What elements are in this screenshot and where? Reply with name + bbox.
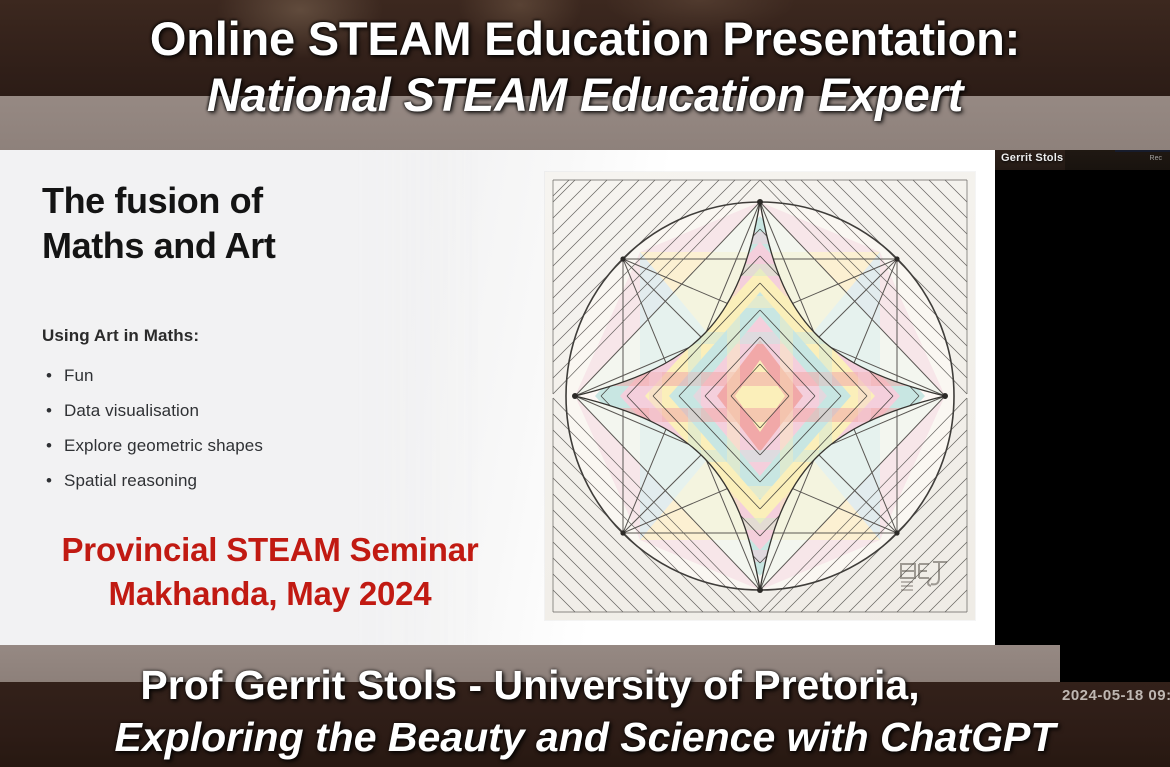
slide-heading-line1: The fusion of xyxy=(42,178,462,223)
event-title: Provincial STEAM Seminar xyxy=(10,528,530,572)
bullet-item: Fun xyxy=(42,358,263,393)
bottom-band-black-gap xyxy=(1060,645,1170,682)
bullet-item: Data visualisation xyxy=(42,393,263,428)
presentation-title-line1: Online STEAM Education Presentation: xyxy=(0,12,1170,66)
presentation-title-line2: National STEAM Education Expert xyxy=(0,68,1170,122)
artist-signature-icon xyxy=(895,554,957,594)
geometric-artwork xyxy=(545,172,975,620)
event-place-date: Makhanda, May 2024 xyxy=(10,572,530,616)
recording-badge: Rec xyxy=(1150,155,1162,162)
slide-subheading: Using Art in Maths: xyxy=(42,326,199,346)
presenter-credit-line: Prof Gerrit Stols - University of Pretor… xyxy=(0,660,1060,710)
participant-name-label: Gerrit Stols xyxy=(1001,152,1063,164)
slide-heading-line2: Maths and Art xyxy=(42,223,462,268)
artwork-drawing xyxy=(545,172,975,620)
video-conference-screen: The fusion of Maths and Art Using Art in… xyxy=(0,0,1170,767)
shared-slide[interactable]: The fusion of Maths and Art Using Art in… xyxy=(0,150,1000,645)
empty-video-pane xyxy=(995,170,1170,645)
slide-bullet-list: Fun Data visualisation Explore geometric… xyxy=(42,358,263,498)
presentation-subtitle-line: Exploring the Beauty and Science with Ch… xyxy=(0,712,1170,762)
bullet-item: Spatial reasoning xyxy=(42,463,263,498)
slide-event-footer: Provincial STEAM Seminar Makhanda, May 2… xyxy=(10,528,530,616)
recording-timestamp: 2024-05-18 09:4 xyxy=(1062,687,1170,704)
bullet-item: Explore geometric shapes xyxy=(42,428,263,463)
slide-heading: The fusion of Maths and Art xyxy=(42,178,462,268)
